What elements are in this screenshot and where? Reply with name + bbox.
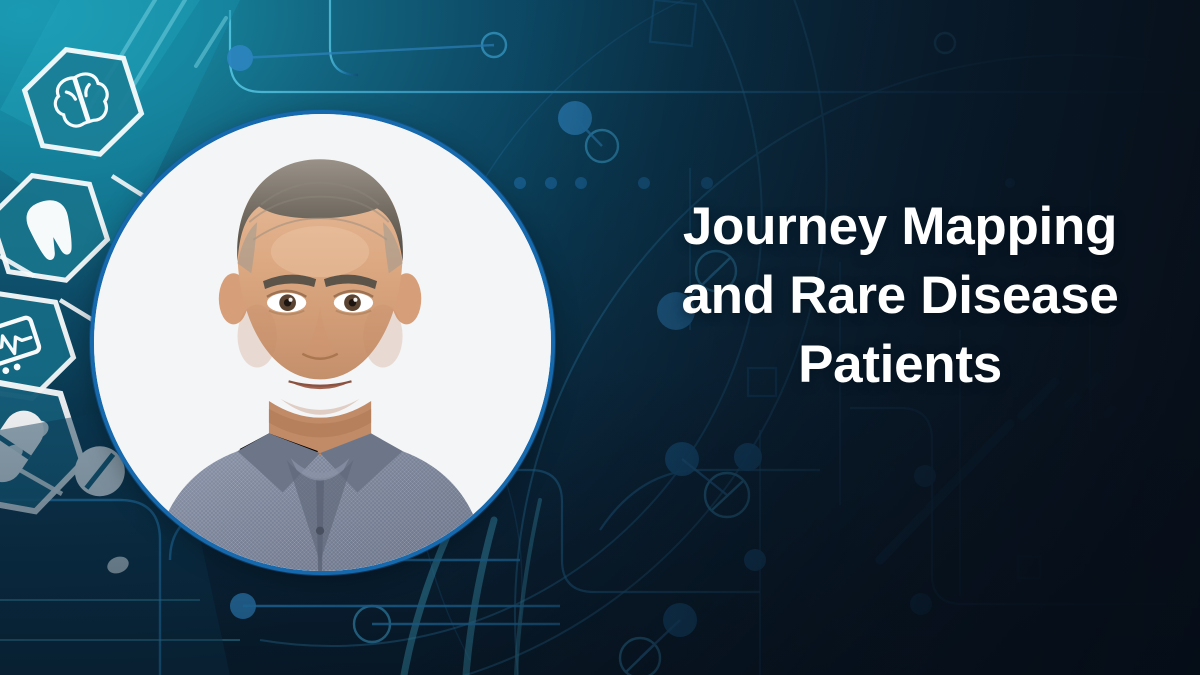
banner-title: Journey Mapping and Rare Disease Patient… [640,192,1160,399]
title-line-3: Patients [640,330,1160,399]
webinar-title-banner: Journey Mapping and Rare Disease Patient… [0,0,1200,675]
speaker-photo [94,114,551,571]
speaker-portrait [90,110,555,575]
title-line-1: Journey Mapping [640,192,1160,261]
title-line-2: and Rare Disease [640,261,1160,330]
